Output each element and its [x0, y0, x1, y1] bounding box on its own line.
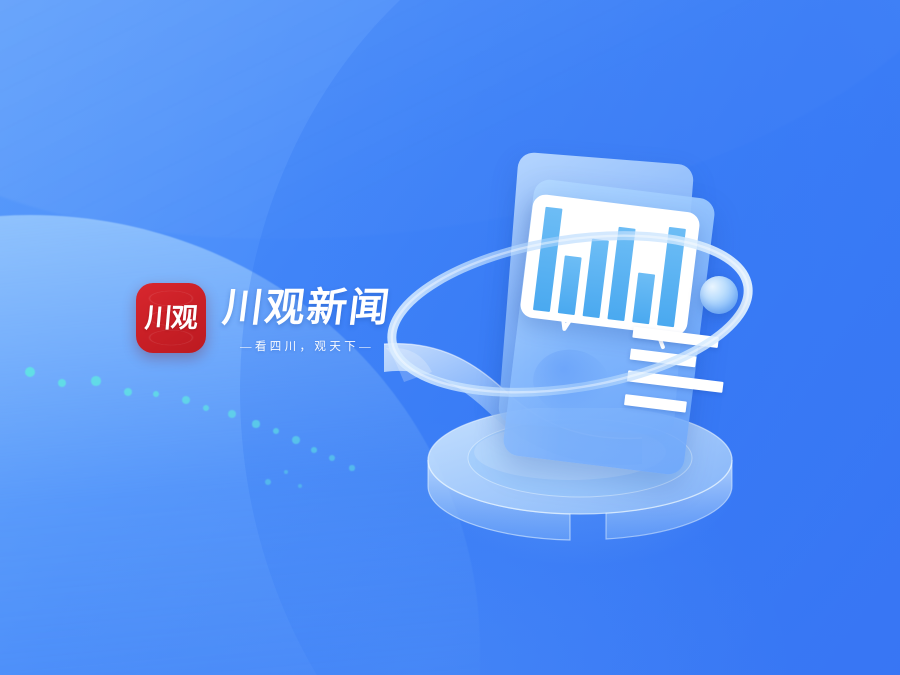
decorative-dot	[298, 484, 302, 488]
brand-wordmark: 川观新闻	[220, 287, 393, 329]
decorative-dot	[124, 388, 132, 396]
decorative-dot	[203, 405, 209, 411]
decorative-dot	[311, 447, 317, 453]
decorative-dot	[273, 428, 279, 434]
brand-logo-lockup: 川观 川观新闻 —看四川，观天下—	[136, 283, 391, 354]
decorative-dot	[25, 367, 35, 377]
brand-text-column: 川观新闻 —看四川，观天下—	[223, 283, 391, 354]
decorative-dot	[228, 410, 236, 418]
decorative-dot	[265, 479, 271, 485]
decorative-dot	[284, 470, 289, 475]
decorative-dot	[58, 379, 66, 387]
decorative-dot	[91, 376, 101, 386]
logo-mark-icon: 川观	[136, 283, 206, 353]
promo-banner: 川观 川观新闻 —看四川，观天下—	[0, 0, 900, 675]
decorative-dot	[292, 436, 300, 444]
data-report-illustration	[390, 140, 790, 560]
decorative-dot	[182, 396, 191, 405]
decorative-dot	[349, 465, 354, 470]
orbit-bead-icon	[700, 276, 738, 314]
orbit-ring-icon	[384, 226, 756, 402]
logo-mark-label: 川观	[144, 305, 198, 332]
decorative-dot	[329, 455, 335, 461]
brand-tagline: —看四川，观天下—	[223, 338, 391, 354]
decorative-dot	[252, 420, 259, 427]
decorative-dot	[153, 391, 160, 398]
